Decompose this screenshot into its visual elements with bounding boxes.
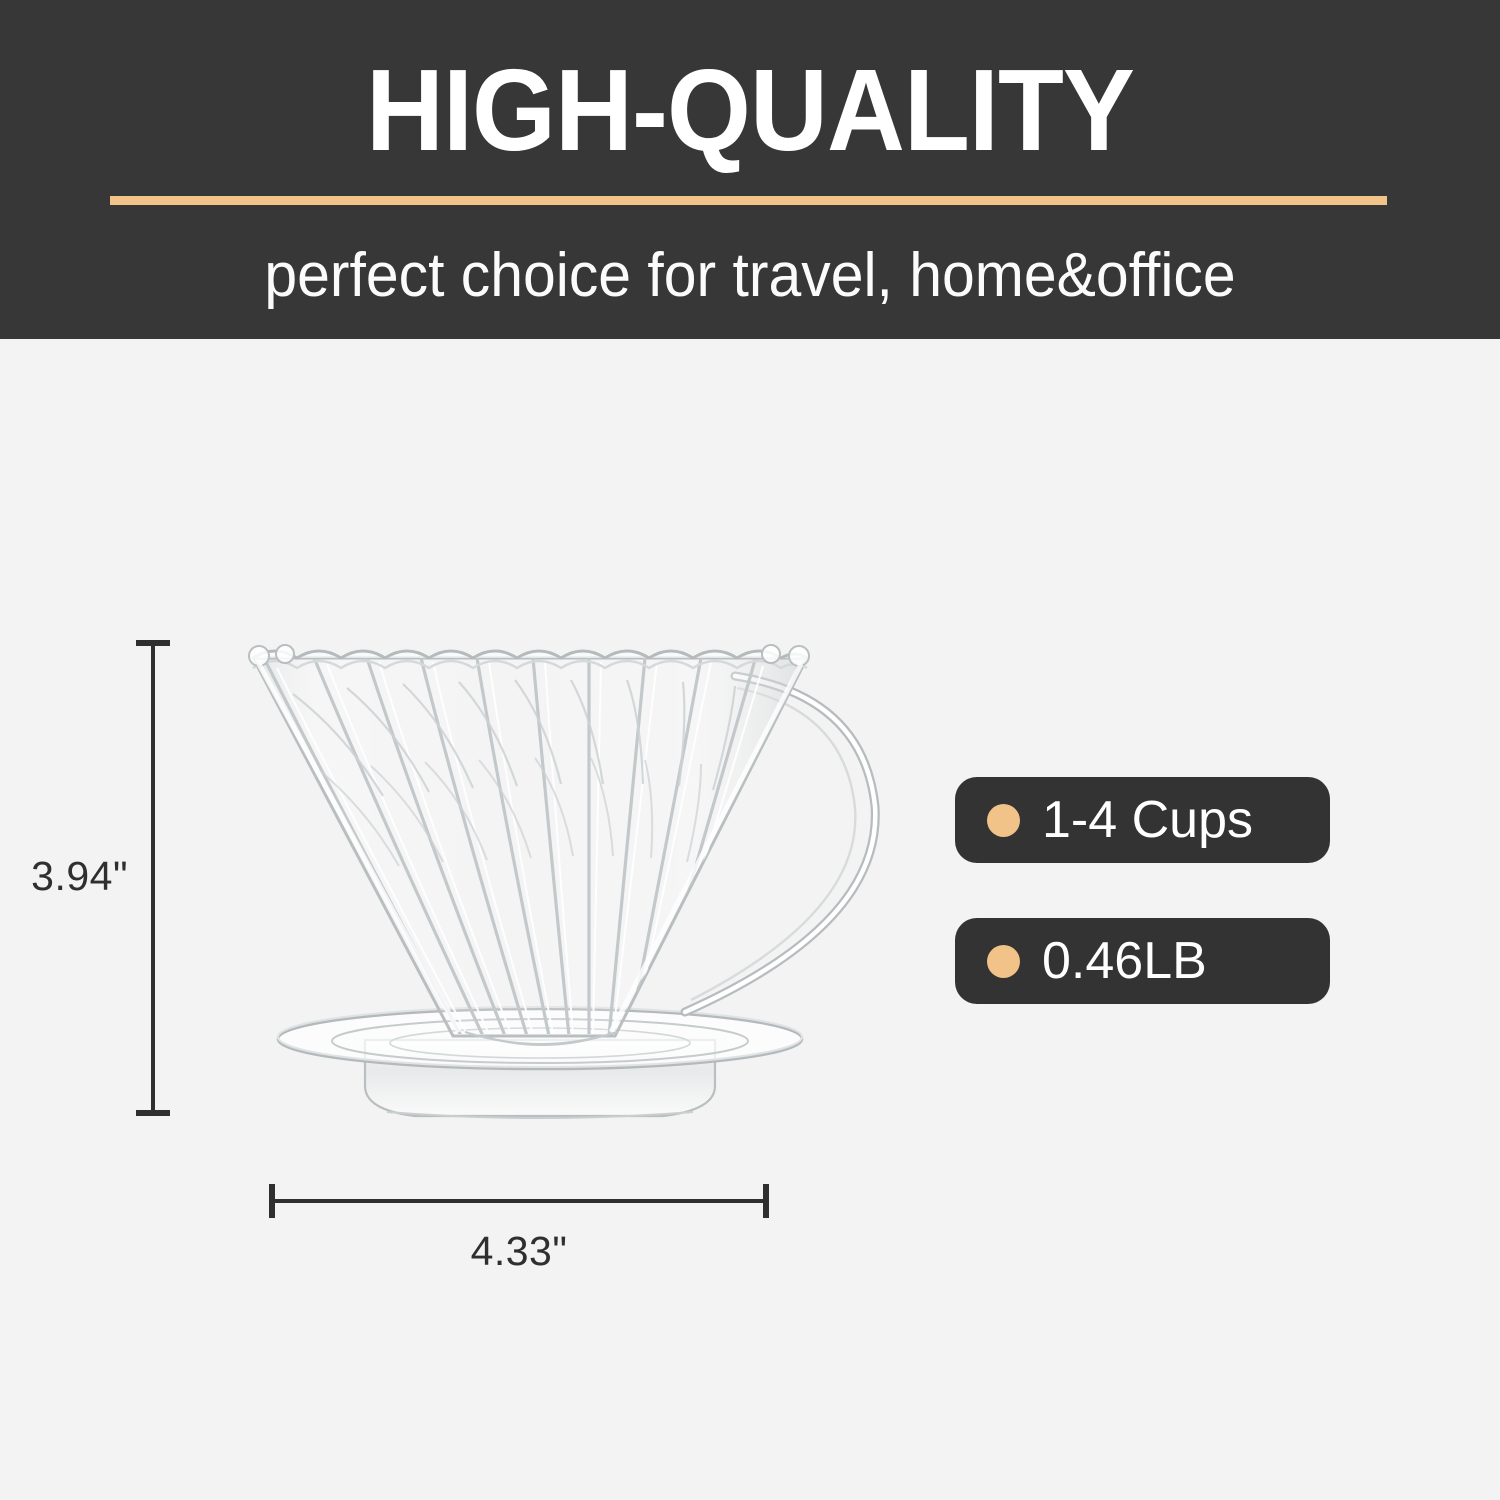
header-subtitle: perfect choice for travel, home&office [38,240,1463,312]
height-caliper-cap-bottom [136,1110,170,1116]
spec-badge-cups-label: 1-4 Cups [1042,791,1253,849]
bullet-dot-icon [987,945,1020,978]
width-dimension-label: 4.33" [271,1227,767,1275]
spec-badge-list: 1-4 Cups 0.46LB [955,777,1335,1004]
height-dimension-label: 3.94" [0,852,128,900]
spec-badge-weight: 0.46LB [955,918,1330,1004]
width-caliper-line [271,1199,767,1203]
spec-badge-cups: 1-4 Cups [955,777,1330,863]
width-caliper-cap-right [763,1184,769,1218]
dripper-cone [249,645,809,1036]
page-title: HIGH-QUALITY [53,52,1448,168]
bullet-dot-icon [987,804,1020,837]
header-divider [110,196,1387,205]
header-banner: HIGH-QUALITY perfect choice for travel, … [0,0,1500,339]
product-stage: 3.94" 4.33" 1-4 Cups 0.46LB [0,339,1500,1500]
height-caliper-line [151,642,155,1114]
product-image-glass-dripper [215,624,895,1144]
spec-badge-weight-label: 0.46LB [1042,932,1207,990]
